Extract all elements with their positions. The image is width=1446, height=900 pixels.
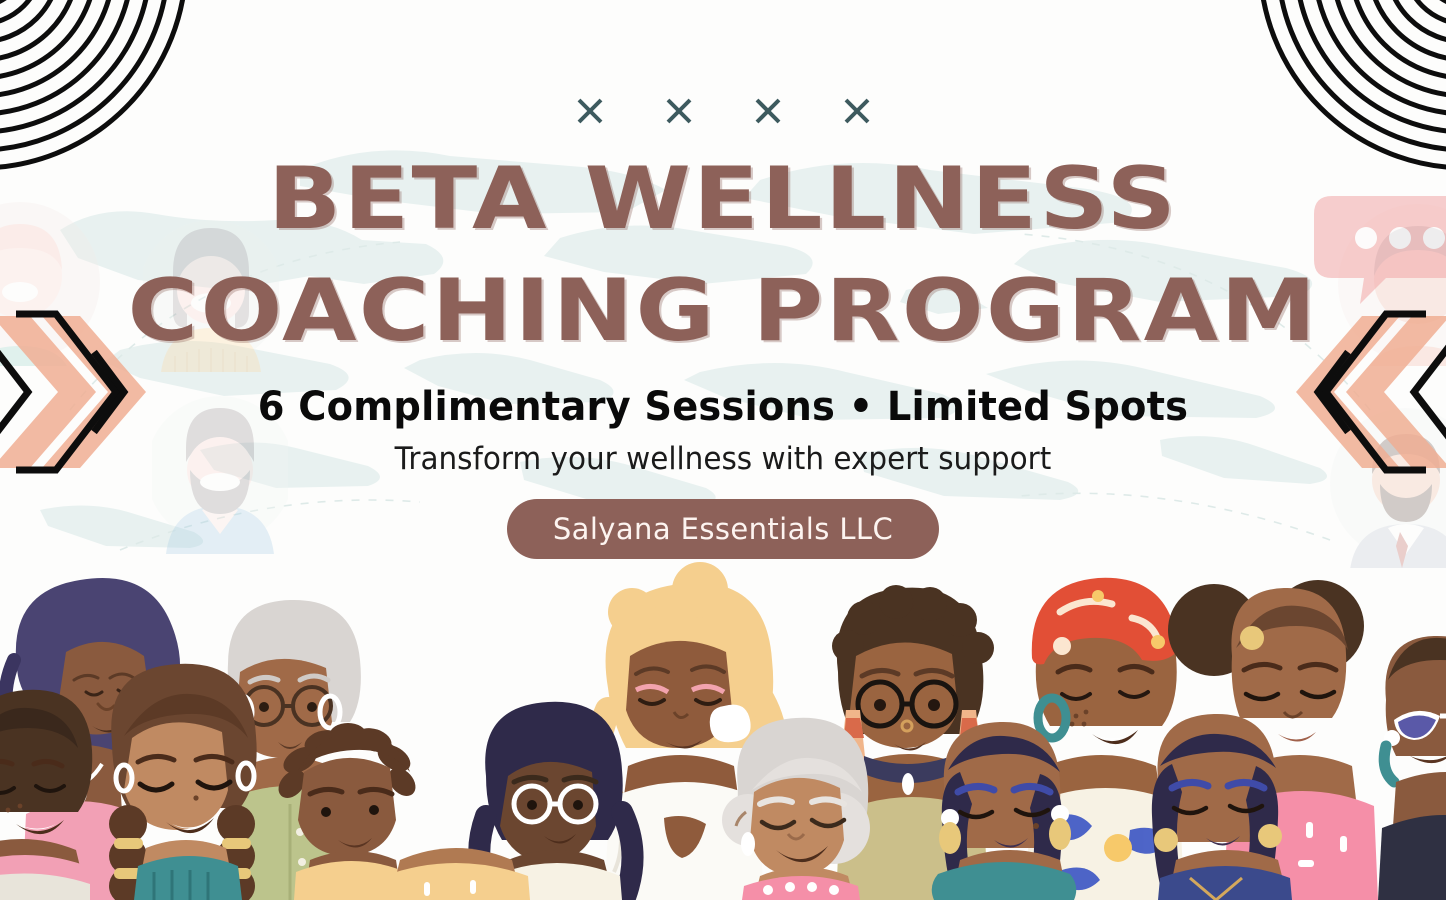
x-mark-row: [0, 96, 1446, 126]
headline-block: BETA WELLNESS COACHING PROGRAM 6 Complim…: [0, 0, 1446, 559]
x-mark-icon: [664, 96, 694, 126]
x-mark-icon: [842, 96, 872, 126]
poster-canvas: BETA WELLNESS COACHING PROGRAM 6 Complim…: [0, 0, 1446, 900]
person-braided-buns: [109, 664, 257, 900]
tagline: 6 Complimentary Sessions • Limited Spots: [29, 384, 1417, 430]
person-yellow-turtleneck: [382, 848, 530, 900]
diverse-group-of-people-illustration: [0, 560, 1446, 900]
company-badge: Salyana Essentials LLC: [507, 499, 939, 559]
person-sunglasses: [1378, 636, 1446, 900]
x-mark-icon: [575, 96, 605, 126]
person-pink-top: [0, 690, 94, 900]
badge-container: Salyana Essentials LLC: [0, 499, 1446, 559]
person-blue-braids-scarf: [932, 722, 1077, 900]
title-line-1: BETA WELLNESS: [0, 144, 1446, 256]
page-title: BETA WELLNESS COACHING PROGRAM: [0, 144, 1446, 368]
subtagline: Transform your wellness with expert supp…: [36, 441, 1410, 477]
person-blue-dress: [1152, 714, 1292, 900]
x-mark-icon: [753, 96, 783, 126]
title-line-2: COACHING PROGRAM: [0, 256, 1446, 368]
